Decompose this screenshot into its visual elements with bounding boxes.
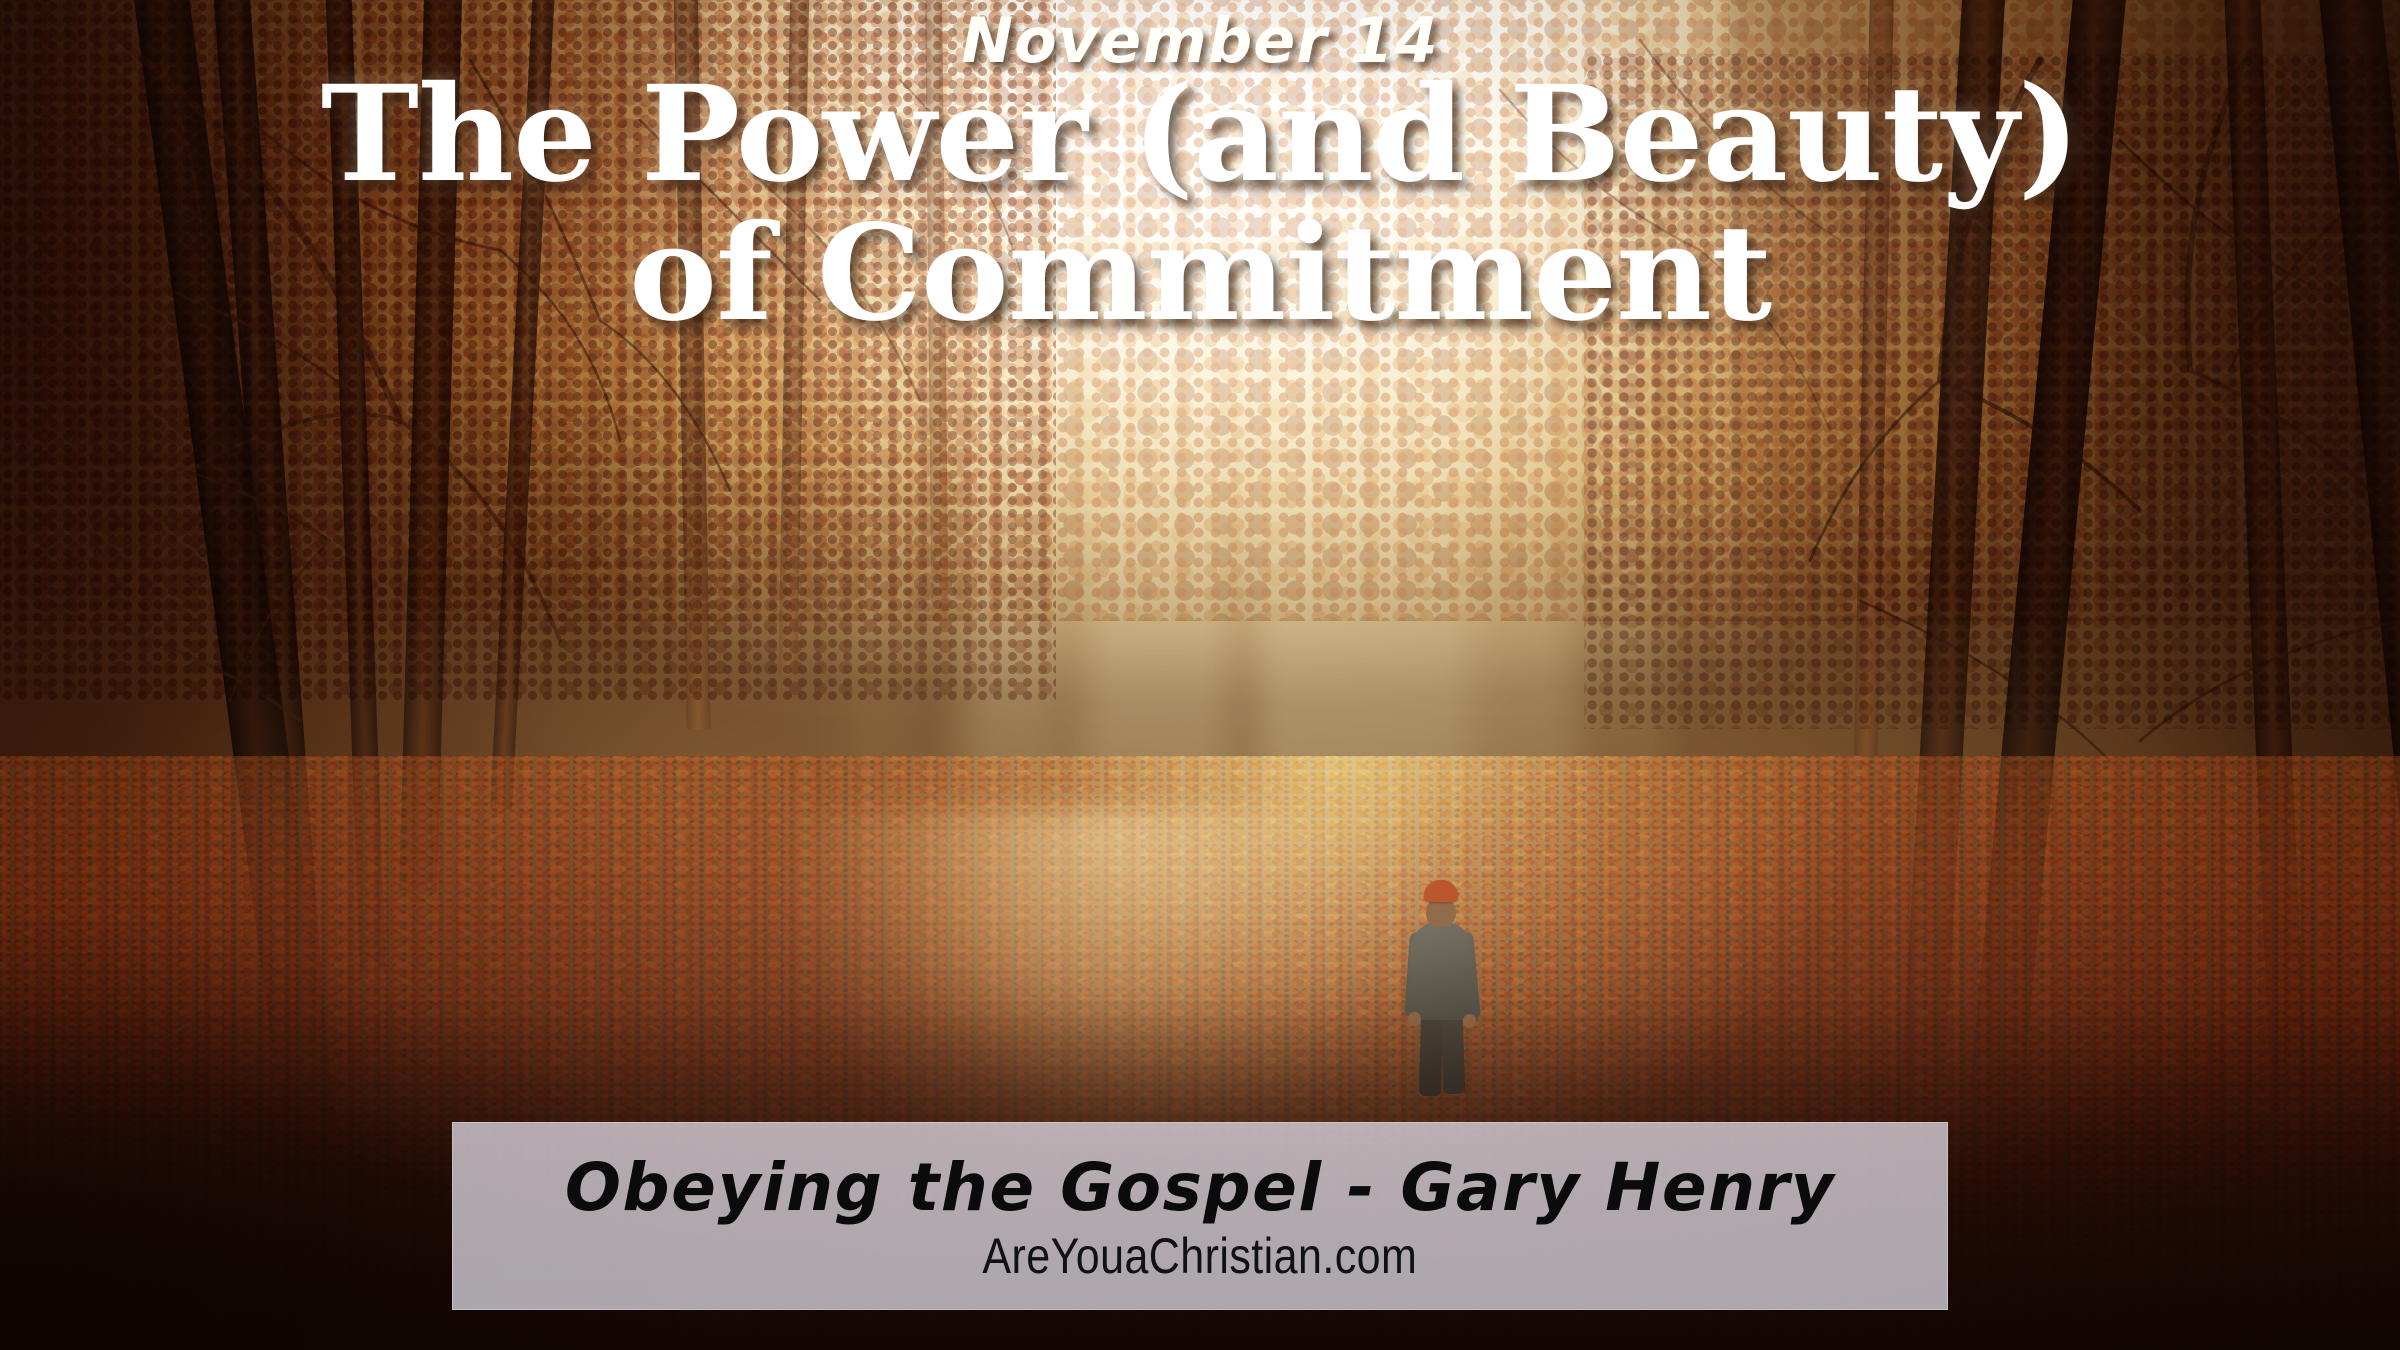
text-overlay: November 14 The Power (and Beauty) of Co… [0, 0, 2400, 1350]
page-title: The Power (and Beauty) of Commitment [0, 66, 2400, 343]
title-line-1: The Power (and Beauty) [0, 66, 2400, 205]
attribution-banner: Obeying the Gospel - Gary Henry AreYouaC… [452, 1122, 1948, 1310]
website-label[interactable]: AreYouaChristian.com [983, 1231, 1418, 1281]
title-line-2: of Commitment [0, 205, 2400, 344]
devotional-graphic: November 14 The Power (and Beauty) of Co… [0, 0, 2400, 1350]
series-and-author-label: Obeying the Gospel - Gary Henry [565, 1155, 1835, 1221]
